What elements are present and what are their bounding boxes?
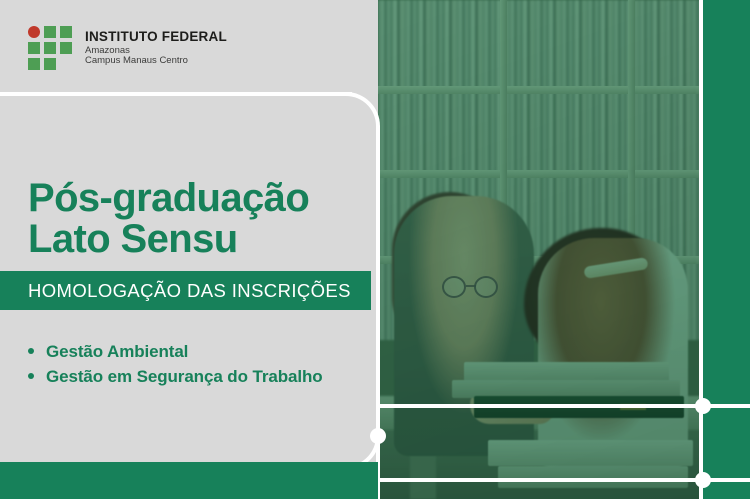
- decor-line-photo-h1: [378, 404, 703, 408]
- decor-line-photo-right: [699, 0, 703, 499]
- list-item: Gestão em Segurança do Trabalho: [28, 367, 323, 387]
- decor-line-photo-h2: [378, 478, 703, 482]
- bottom-green-block: [0, 462, 378, 499]
- page-title: Pós-graduação Lato Sensu: [28, 178, 309, 260]
- green-wash-overlay: [378, 0, 703, 499]
- decor-corner-top: [324, 92, 380, 148]
- page-title-line-1: Pós-graduação: [28, 178, 309, 219]
- status-banner: HOMOLOGAÇÃO DAS INSCRIÇÕES: [0, 271, 371, 310]
- course-label: Gestão Ambiental: [46, 342, 188, 362]
- photo-panel: [378, 0, 703, 499]
- course-list: Gestão Ambiental Gestão em Segurança do …: [28, 342, 323, 392]
- bullet-icon: [28, 348, 34, 354]
- right-green-bar: [703, 0, 750, 499]
- course-label: Gestão em Segurança do Trabalho: [46, 367, 323, 387]
- decor-line-photo-left: [376, 144, 380, 416]
- library-students-photo: [378, 0, 703, 499]
- status-banner-label: HOMOLOGAÇÃO DAS INSCRIÇÕES: [28, 280, 351, 302]
- decor-dot: [370, 428, 386, 444]
- poster-canvas: INSTITUTO FEDERAL Amazonas Campus Manaus…: [0, 0, 750, 499]
- decor-dot: [695, 398, 711, 414]
- page-title-line-2: Lato Sensu: [28, 219, 309, 260]
- bullet-icon: [28, 373, 34, 379]
- institution-logo: INSTITUTO FEDERAL Amazonas Campus Manaus…: [28, 26, 227, 70]
- decor-dot: [695, 472, 711, 488]
- decor-line-top: [0, 92, 352, 96]
- ifam-grid-logo-icon: [28, 26, 74, 70]
- list-item: Gestão Ambiental: [28, 342, 323, 362]
- logo-campus: Campus Manaus Centro: [85, 56, 227, 66]
- logo-institution-name: INSTITUTO FEDERAL: [85, 30, 227, 44]
